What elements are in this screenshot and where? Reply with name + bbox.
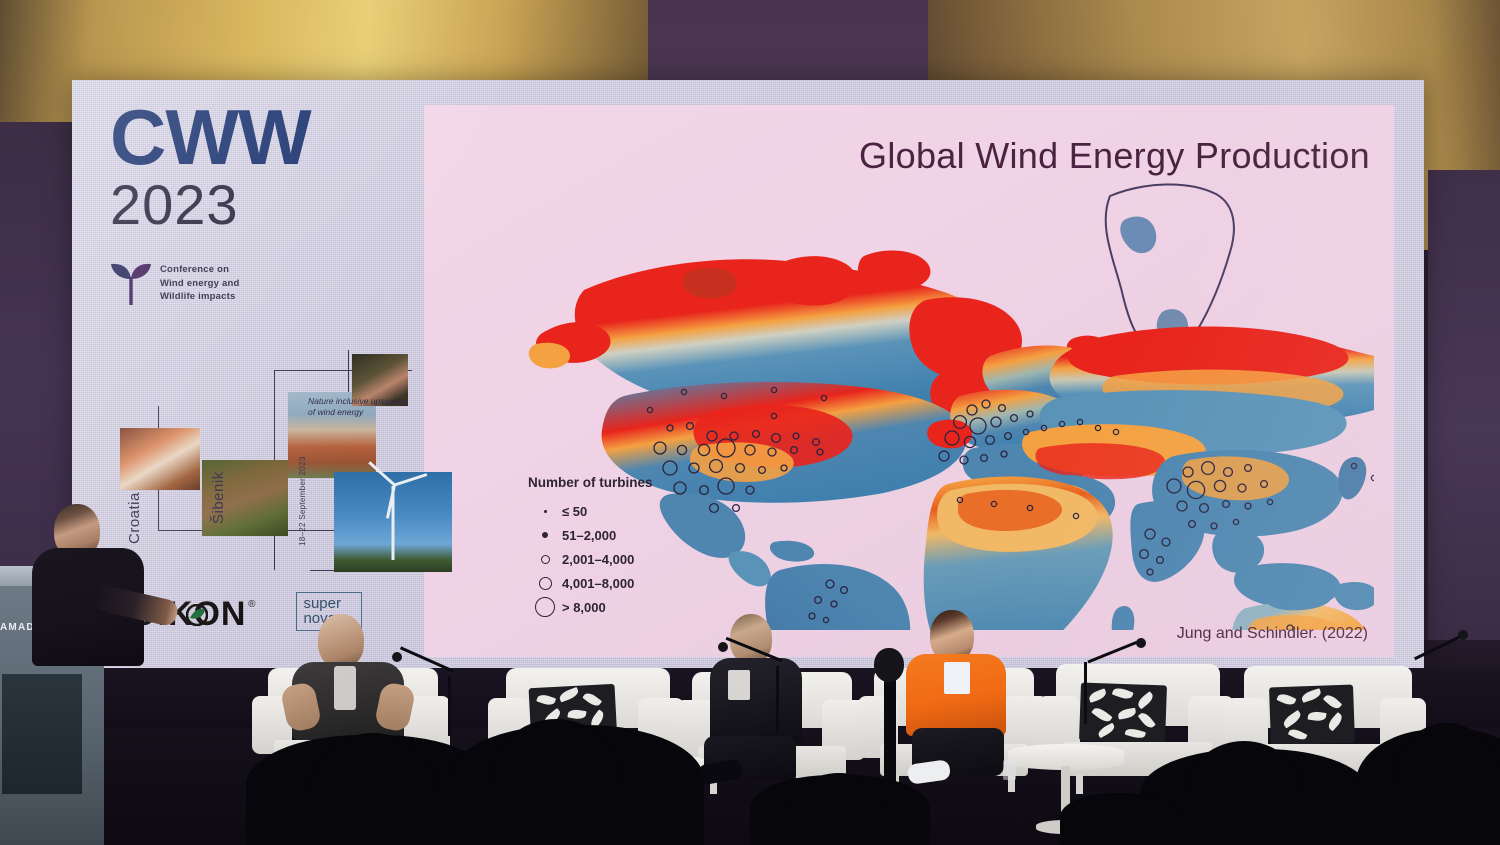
panelist-woman-orange <box>898 610 1016 800</box>
microphone-head-icon <box>392 652 402 662</box>
audience-head <box>490 719 622 845</box>
collage-caption: Nature inclusive upscaling of wind energ… <box>308 396 416 419</box>
tagline-line-1: Conference on <box>160 263 239 277</box>
name-badge <box>728 670 750 700</box>
audience-silhouette <box>1060 793 1180 845</box>
supernova-line-1: super <box>303 596 355 611</box>
name-badge-lanyard <box>334 666 356 710</box>
slide-citation: Jung and Schindler. (2022) <box>1177 625 1368 643</box>
name-badge <box>944 662 970 694</box>
microphone-head-icon <box>718 642 728 652</box>
audience-head <box>1392 723 1500 845</box>
legend-marker-icon <box>528 510 562 513</box>
conference-photo-scene: CWW 2023 Conference on Wind energy and W… <box>0 0 1500 845</box>
panelist-woman-black <box>700 614 810 794</box>
legend-marker-icon <box>528 577 562 590</box>
slide-panel: Global Wind Energy Production <box>424 105 1394 657</box>
decorative-cushion <box>1269 685 1355 746</box>
legend-label: 4,001–8,000 <box>562 576 634 591</box>
conference-tagline: Conference on Wind energy and Wildlife i… <box>160 263 239 304</box>
cww-year: 2023 <box>110 176 430 235</box>
microphone-head-icon <box>1458 630 1468 640</box>
panelist-torso <box>710 658 802 744</box>
legend-label: 51–2,000 <box>562 528 616 543</box>
panelist-head <box>318 614 364 668</box>
tagline-line-2: Wind energy and <box>160 277 239 291</box>
presentation-screen: CWW 2023 Conference on Wind energy and W… <box>72 80 1424 668</box>
audience-head <box>310 733 436 845</box>
label-conference-dates: 18–22 September 2023 <box>298 456 307 546</box>
legend-item: 51–2,000 <box>528 523 718 547</box>
legend-item: ≤ 50 <box>528 499 718 523</box>
map-legend: Number of turbines ≤ 50 51–2,000 2,001–4… <box>528 475 718 619</box>
photo-bird-in-hand <box>120 428 200 490</box>
legend-marker-icon <box>528 597 562 617</box>
speaker-at-podium <box>24 500 164 680</box>
tagline-line-3: Wildlife impacts <box>160 290 239 304</box>
decorative-cushion <box>1079 683 1167 744</box>
oikon-registered-mark: ® <box>248 599 255 610</box>
legend-marker-icon <box>528 555 562 564</box>
microphone-head-icon <box>1136 638 1146 648</box>
legend-label: > 8,000 <box>562 600 606 615</box>
legend-item: 4,001–8,000 <box>528 571 718 595</box>
conference-branding: CWW 2023 Conference on Wind energy and W… <box>110 102 430 307</box>
panelist-head <box>730 614 772 664</box>
legend-label: 2,001–4,000 <box>562 552 634 567</box>
conference-logo: Conference on Wind energy and Wildlife i… <box>110 261 430 307</box>
audience-head <box>1186 741 1302 845</box>
legend-marker-icon <box>528 532 562 538</box>
wall-right <box>1428 170 1500 690</box>
label-city: Šibenik <box>210 471 227 524</box>
sprout-logo-icon <box>110 261 152 307</box>
boom-microphone-head-icon <box>874 648 904 682</box>
legend-item: > 8,000 <box>528 595 718 619</box>
panelist-shoe <box>907 759 951 785</box>
cww-acronym: CWW <box>110 102 430 174</box>
panelist-seated-man <box>282 614 412 744</box>
legend-label: ≤ 50 <box>562 504 587 519</box>
audience-head <box>790 773 888 845</box>
legend-item: 2,001–4,000 <box>528 547 718 571</box>
drinking-glass <box>1003 760 1016 780</box>
photo-wind-turbine <box>334 472 452 572</box>
oikon-leaf-icon <box>186 604 208 626</box>
legend-title: Number of turbines <box>528 475 718 490</box>
